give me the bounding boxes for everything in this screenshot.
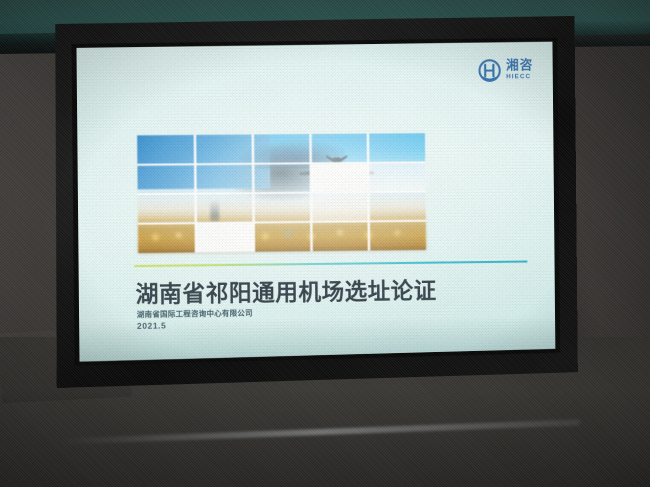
airplane-city-photo-mosaic [137, 133, 426, 253]
logo-english-text: HIECC [506, 75, 533, 82]
slide-viewport: 湘咨 HIECC [76, 42, 555, 362]
projection-screen[interactable]: 湘咨 HIECC [53, 16, 578, 388]
presentation-slide: 湘咨 HIECC [76, 42, 555, 362]
hiecc-circular-h-emblem-icon [477, 58, 503, 84]
mosaic-tile-gutters [137, 133, 426, 253]
logo-chinese-text: 湘咨 [506, 60, 533, 73]
slide-date: 2021.5 [137, 321, 167, 331]
hiecc-logo: 湘咨 HIECC [477, 58, 534, 84]
slide-company: 湖南省国际工程咨询中心有限公司 [137, 307, 253, 319]
slide-title: 湖南省祁阳通用机场选址论证 [135, 271, 436, 308]
hiecc-logo-wordmark: 湘咨 HIECC [506, 60, 533, 81]
title-accent-rule [134, 261, 527, 268]
meeting-room-scene: 湘咨 HIECC [0, 0, 650, 487]
